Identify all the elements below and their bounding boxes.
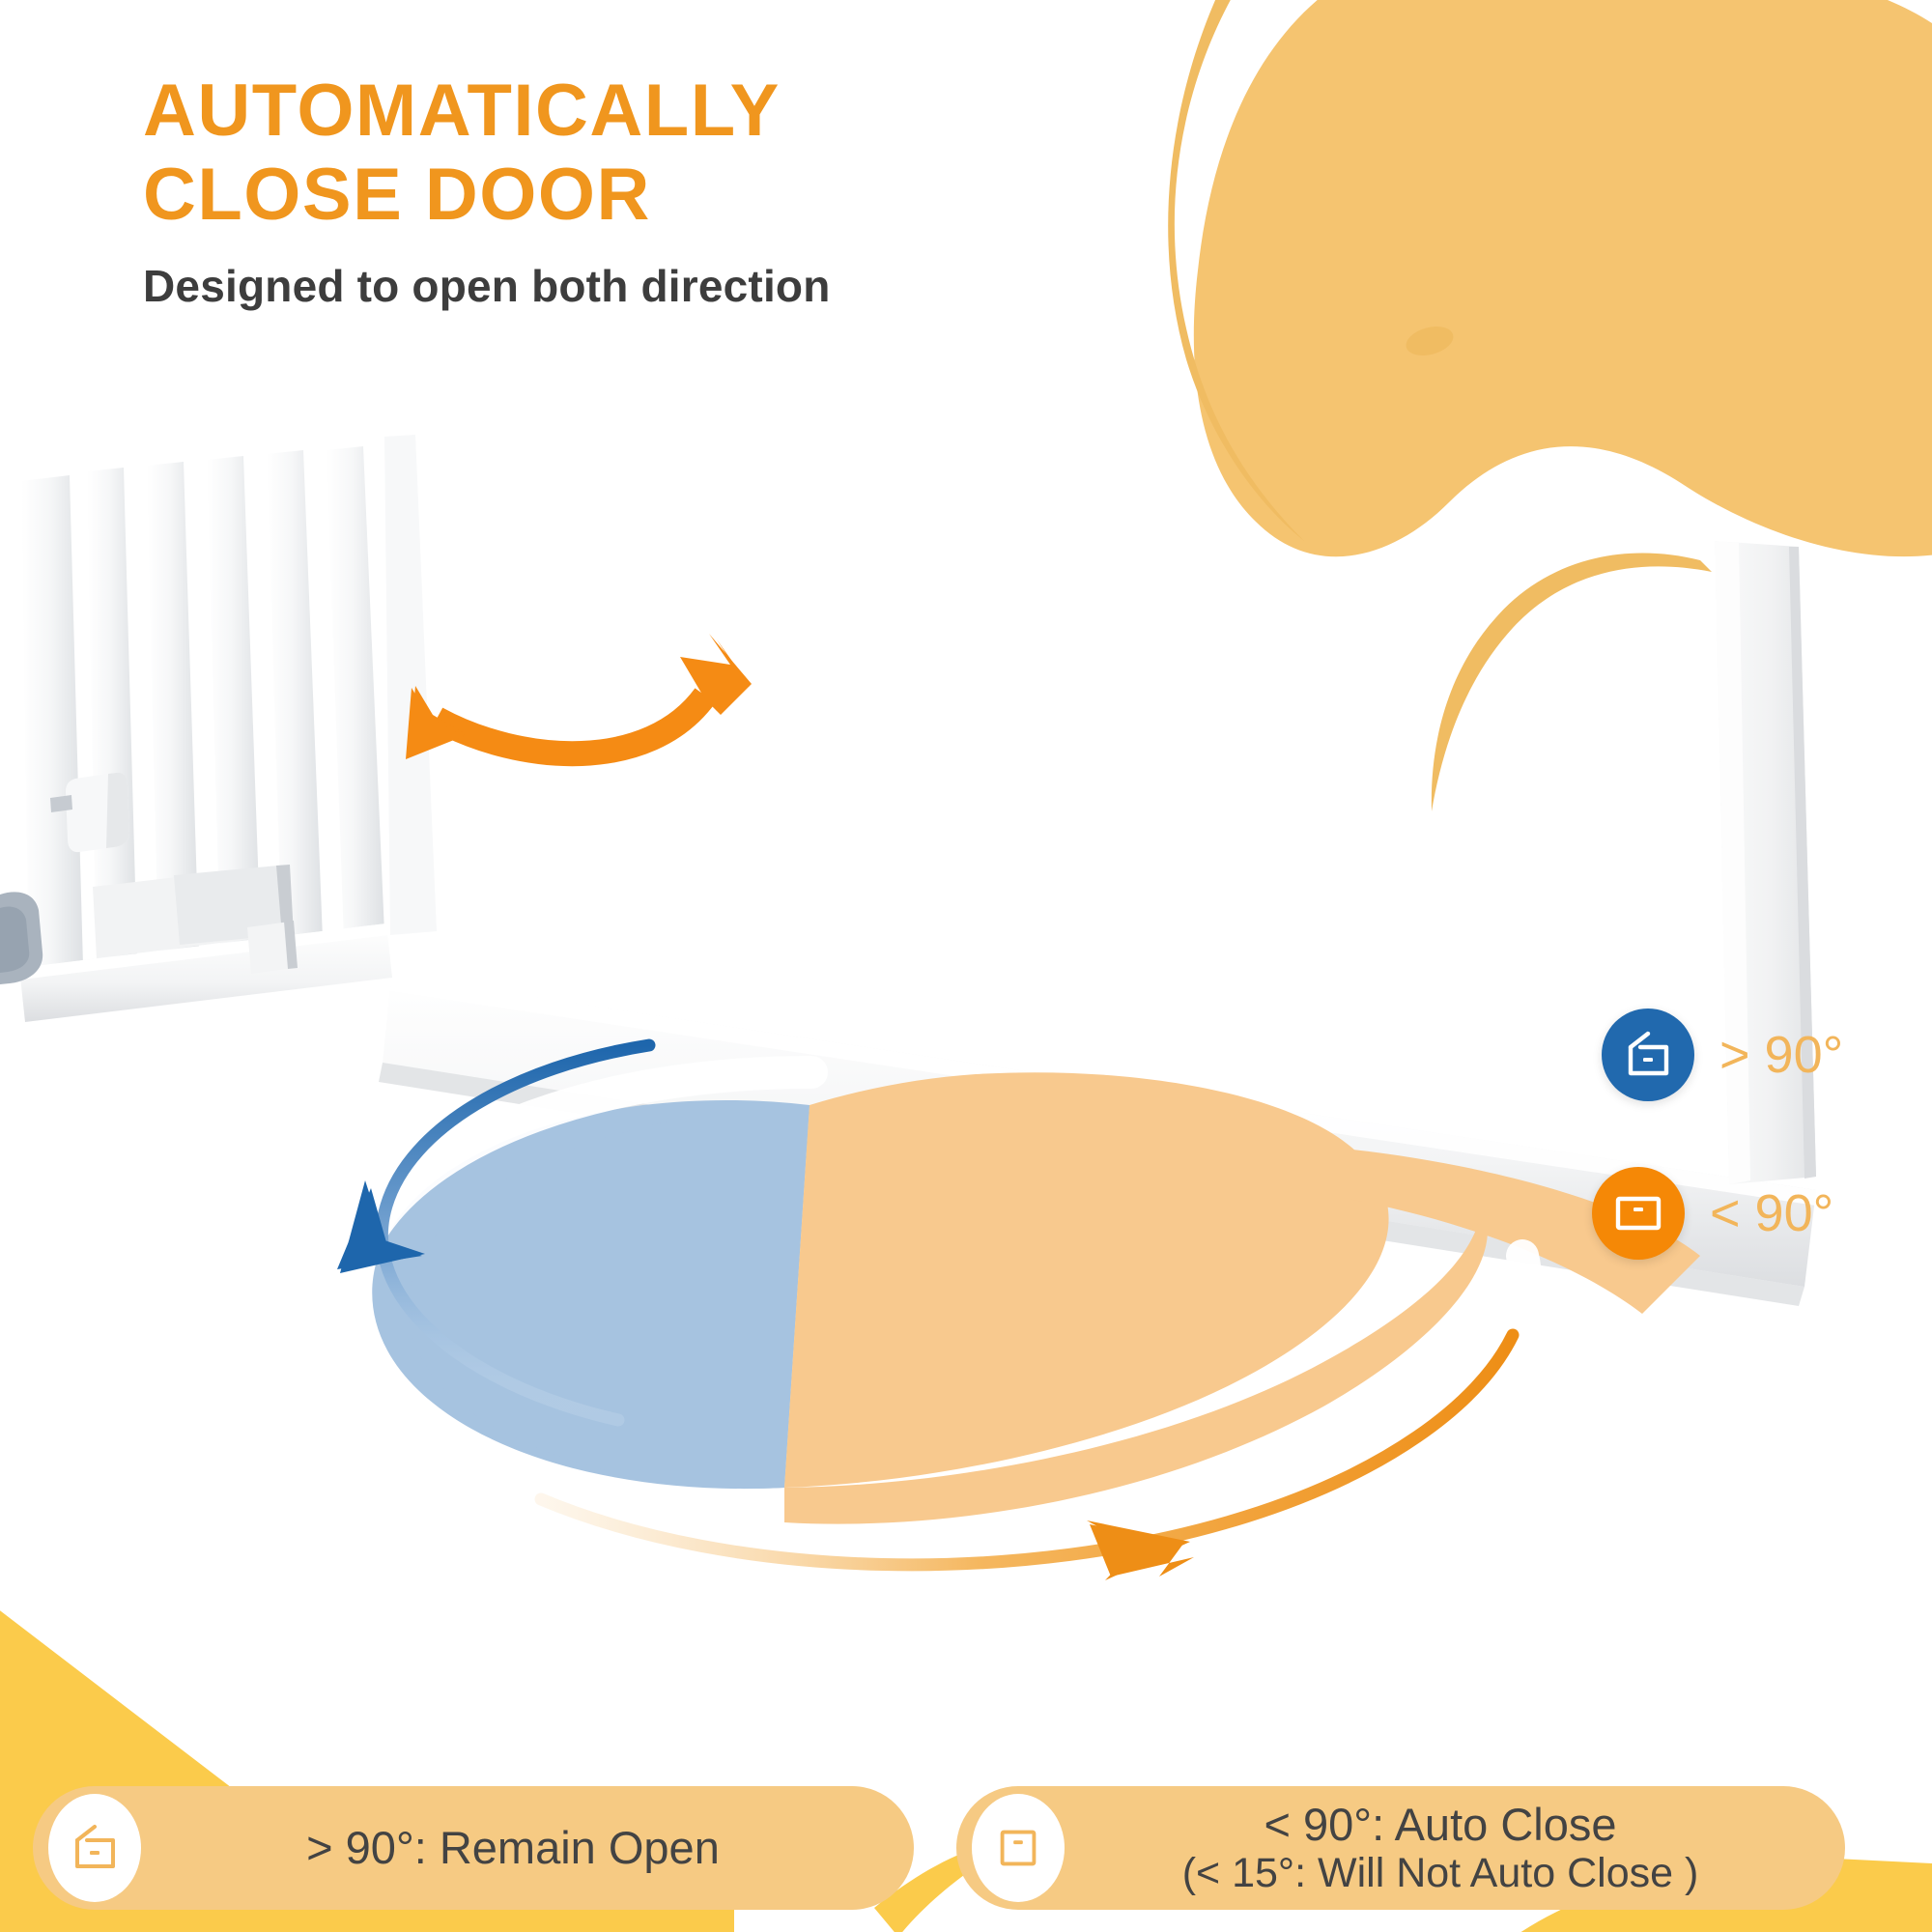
decor-blob-top-right — [1168, 0, 1932, 811]
blue-swing-sector — [372, 1100, 810, 1489]
page-title: AUTOMATICALLY CLOSE DOOR — [143, 70, 1109, 237]
angle-badge-lt-90: < 90° — [1592, 1167, 1833, 1260]
door-closed-icon — [1592, 1167, 1685, 1260]
legend-row: > 90°: Remain Open < 90°: Auto Close (< … — [0, 1776, 1932, 1920]
door-closed-icon — [972, 1794, 1065, 1902]
legend-item-auto-close-label: < 90°: Auto Close (< 15°: Will Not Auto … — [1065, 1800, 1806, 1897]
legend-item-remain-open: > 90°: Remain Open — [33, 1786, 914, 1910]
orange-swing-sector — [784, 1072, 1700, 1523]
legend-item-remain-open-label: > 90°: Remain Open — [141, 1823, 875, 1874]
legend-item-auto-close: < 90°: Auto Close (< 15°: Will Not Auto … — [956, 1786, 1845, 1910]
legend-item-auto-close-main: < 90°: Auto Close — [1264, 1799, 1616, 1850]
angle-badge-gt-90-label: > 90° — [1719, 1025, 1843, 1085]
door-open-icon — [1602, 1009, 1694, 1101]
angle-badge-lt-90-label: < 90° — [1710, 1183, 1833, 1243]
infographic-canvas: AUTOMATICALLY CLOSE DOOR Designed to ope… — [0, 0, 1932, 1932]
gate-left-panel — [0, 435, 437, 1022]
gate-bars — [87, 446, 384, 964]
page-subtitle: Designed to open both direction — [143, 260, 1109, 312]
door-open-icon — [48, 1794, 141, 1902]
heading-block: AUTOMATICALLY CLOSE DOOR Designed to ope… — [143, 70, 1109, 312]
orange-rotation-arrow — [541, 1335, 1513, 1580]
blue-rotation-arrow — [337, 1045, 649, 1420]
legend-item-auto-close-sub: (< 15°: Will Not Auto Close ) — [1074, 1850, 1806, 1896]
angle-badge-gt-90: > 90° — [1602, 1009, 1843, 1101]
